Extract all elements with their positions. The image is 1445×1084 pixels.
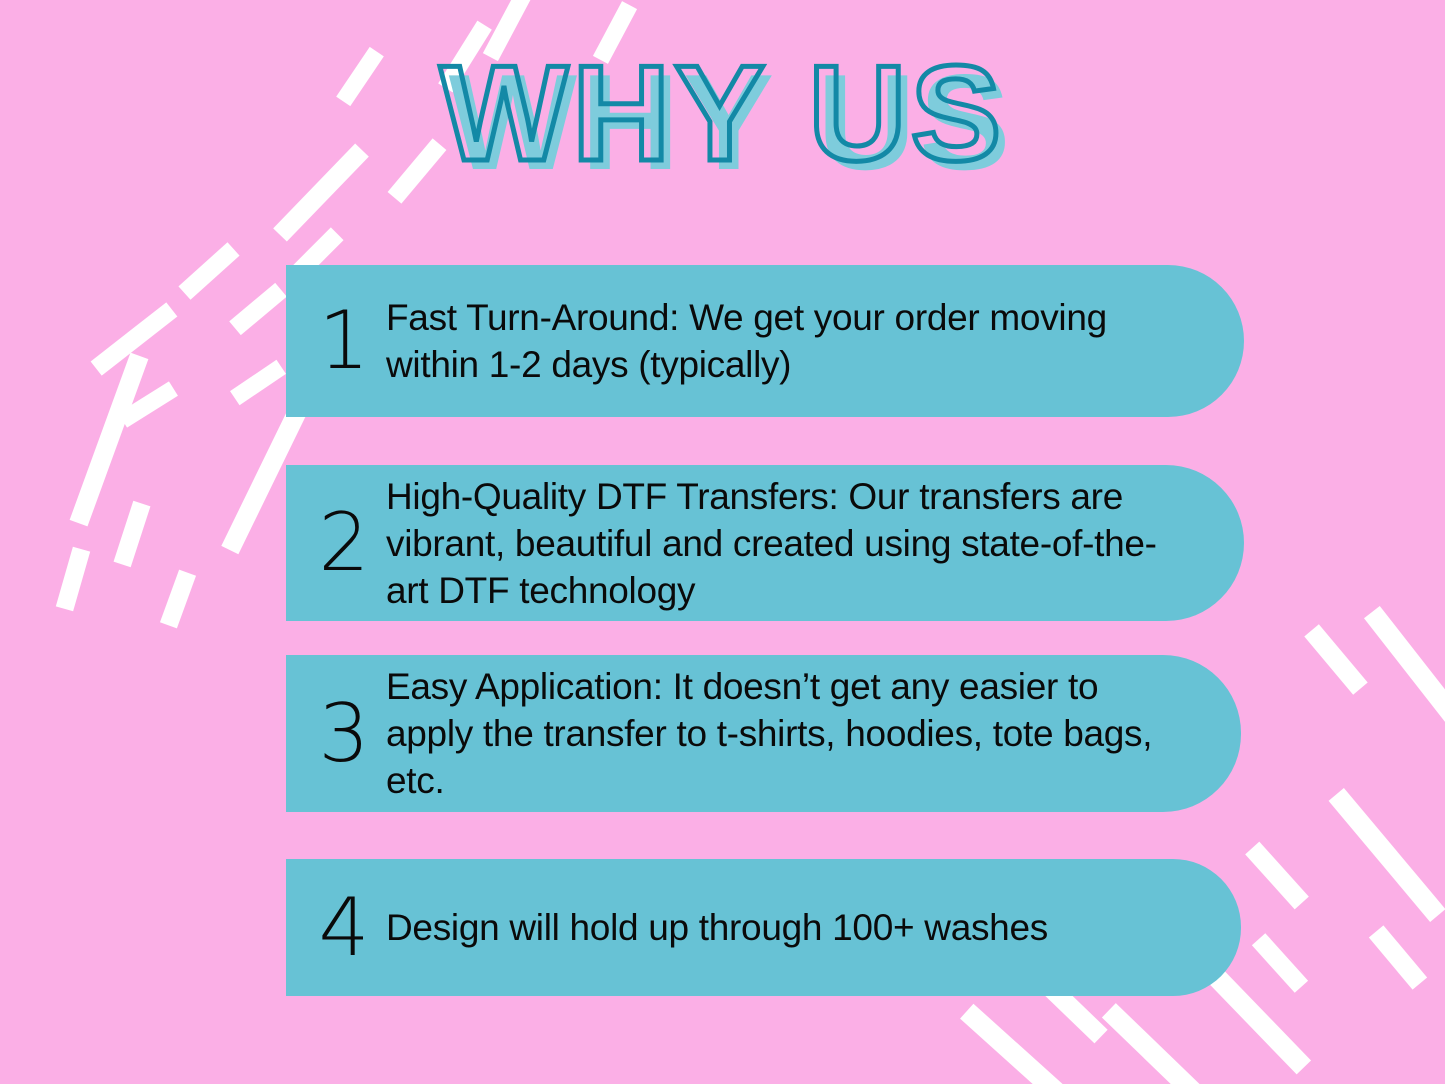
decor-stripe [70,353,149,527]
decor-stripe [1245,842,1309,910]
decor-stripe [118,381,178,427]
page-title-outline: WHY US [0,38,1445,188]
decor-stripe [1252,933,1308,993]
decor-stripe [1364,606,1445,790]
decor-stripe [114,501,151,567]
benefit-card-4: 4 Design will hold up through 100+ washe… [286,859,1241,996]
decor-stripe [1102,1003,1202,1084]
benefit-text-2: High-Quality DTF Transfers: Our transfer… [386,473,1244,614]
benefit-text-3: Easy Application: It doesn’t get any eas… [386,663,1241,804]
benefit-card-3: 3 Easy Application: It doesn’t get any e… [286,655,1241,812]
decor-stripe [229,283,287,335]
benefit-number-4: 4 [308,888,380,968]
decor-stripe [91,302,178,375]
page-title: WHY US WHY US [0,38,1445,188]
decor-stripe [56,547,90,612]
decor-stripe [1369,925,1427,989]
decor-stripe [1205,966,1311,1075]
benefit-number-2: 2 [308,503,380,583]
benefit-number-3: 3 [308,694,380,774]
decor-stripe [960,1004,1082,1084]
benefit-number-1: 1 [308,301,380,381]
benefit-text-4: Design will hold up through 100+ washes [386,904,1241,951]
decor-stripe [230,360,286,405]
benefit-card-2: 2 High-Quality DTF Transfers: Our transf… [286,465,1244,621]
decor-stripe [1304,624,1367,694]
decor-stripe [178,242,239,300]
benefit-text-1: Fast Turn-Around: We get your order movi… [386,294,1244,388]
poster-canvas: WHY US WHY US 1 Fast Turn-Around: We get… [0,0,1445,1084]
benefit-card-1: 1 Fast Turn-Around: We get your order mo… [286,265,1244,417]
decor-stripe [160,570,196,629]
decor-stripe [1329,788,1445,922]
